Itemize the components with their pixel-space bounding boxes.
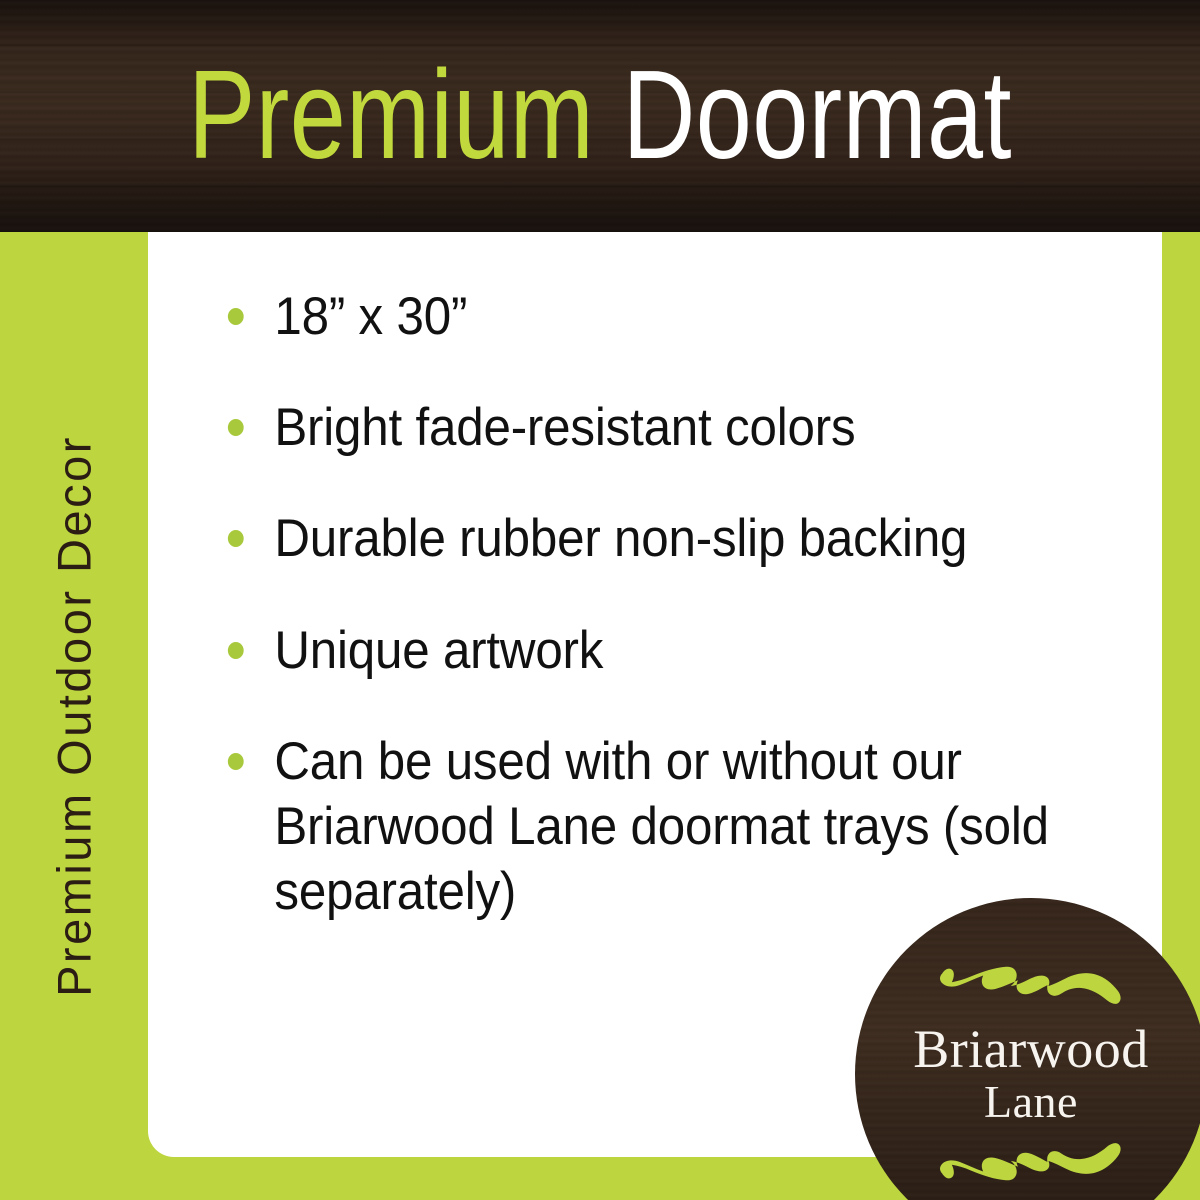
header-banner: Premium Doormat bbox=[0, 0, 1200, 232]
list-item: Durable rubber non-slip backing bbox=[226, 506, 1063, 571]
list-item-label: 18” x 30” bbox=[274, 287, 467, 346]
sidebar-category-banner: Premium Outdoor Decor bbox=[0, 232, 148, 1200]
list-item: 18” x 30” bbox=[226, 284, 1063, 349]
bullet-dot-icon bbox=[228, 753, 244, 770]
brand-name-line1: Briarwood bbox=[913, 1022, 1148, 1077]
brand-name-line2: Lane bbox=[913, 1077, 1148, 1127]
list-item-label: Durable rubber non-slip backing bbox=[274, 509, 967, 568]
page-title: Premium Doormat bbox=[120, 52, 1080, 178]
page-title-accent: Premium bbox=[188, 44, 622, 185]
bullet-dot-icon bbox=[228, 530, 244, 547]
product-infographic: Premium Doormat Premium Outdoor Decor 18… bbox=[0, 0, 1200, 1200]
brand-logo-content: Briarwood Lane bbox=[855, 898, 1200, 1200]
list-item: Unique artwork bbox=[226, 618, 1063, 683]
list-item-label: Unique artwork bbox=[274, 621, 603, 680]
list-item-label: Bright fade-resistant colors bbox=[274, 398, 855, 457]
sidebar-category-label: Premium Outdoor Decor bbox=[47, 435, 102, 997]
oak-leaf-flourish-bottom-icon bbox=[933, 1131, 1129, 1187]
brand-wordmark: Briarwood Lane bbox=[913, 1022, 1148, 1127]
feature-bullet-list: 18” x 30” Bright fade-resistant colors D… bbox=[226, 284, 1126, 924]
bullet-dot-icon bbox=[228, 308, 244, 325]
page-title-main: Doormat bbox=[623, 44, 1012, 185]
oak-leaf-flourish-top-icon bbox=[933, 960, 1129, 1016]
list-item-label: Can be used with or without our Briarwoo… bbox=[274, 732, 1048, 921]
bullet-dot-icon bbox=[228, 642, 244, 659]
brand-logo-badge: Briarwood Lane bbox=[855, 898, 1200, 1200]
list-item: Can be used with or without our Briarwoo… bbox=[226, 729, 1063, 925]
bullet-dot-icon bbox=[228, 419, 244, 436]
list-item: Bright fade-resistant colors bbox=[226, 395, 1063, 460]
